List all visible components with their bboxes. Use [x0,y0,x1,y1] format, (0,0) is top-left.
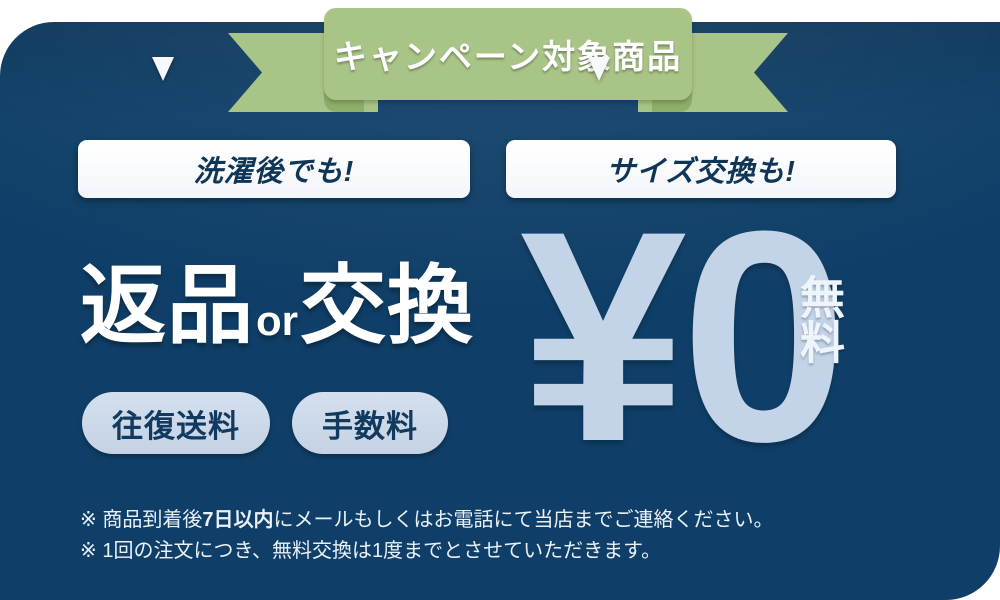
ribbon-panel: キャンペーン対象商品 [324,8,692,100]
pill-round-trip-shipping-label: 往復送料 [112,401,240,446]
speech-bubble-wash: 洗濯後でも! [78,140,470,198]
speech-bubble-wash-label: 洗濯後でも! [194,148,355,190]
speech-bubble-size: サイズ交換も! [506,140,896,198]
footnote-line: ※ 商品到着後7日以内にメールもしくはお電話にて当店までご連絡ください。 [80,505,773,536]
ribbon-label: キャンペーン対象商品 [334,30,682,78]
footnote-emphasis: 7日以内 [202,509,273,531]
footnote-text-before: 1回の注文につき、無料交換は1度までとさせていただきます。 [97,540,661,562]
footnote-marker: ※ [80,540,97,562]
headline-lead: 返品 [80,258,254,354]
footnote-text-before: 商品到着後 [97,509,203,531]
speech-bubble-size-tail [588,57,610,81]
pill-round-trip-shipping: 往復送料 [82,392,270,454]
benefit-pills: 往復送料 手数料 [82,392,448,454]
footnote-marker: ※ [80,509,97,531]
footnote-line: ※ 1回の注文につき、無料交換は1度までとさせていただきます。 [80,536,773,567]
speech-bubble-wash-tail [152,57,174,81]
campaign-ribbon: キャンペーン対象商品 [228,0,788,120]
footnotes: ※ 商品到着後7日以内にメールもしくはお電話にて当店までご連絡ください。 ※ 1… [80,505,773,567]
headline: 返品 or 交換 [80,258,474,369]
speech-bubble-size-label: サイズ交換も! [606,148,796,190]
footnote-text-after: にメールもしくはお電話にて当店までご連絡ください。 [273,509,773,531]
pill-handling-fee: 手数料 [292,392,448,454]
headline-conjunction: or [254,273,300,369]
promo-banner: キャンペーン対象商品 ¥0 無料 洗濯後でも! サイズ交換も! 返品 or 交換… [0,0,1000,600]
pill-handling-fee-label: 手数料 [322,401,418,446]
headline-trail: 交換 [300,258,474,354]
